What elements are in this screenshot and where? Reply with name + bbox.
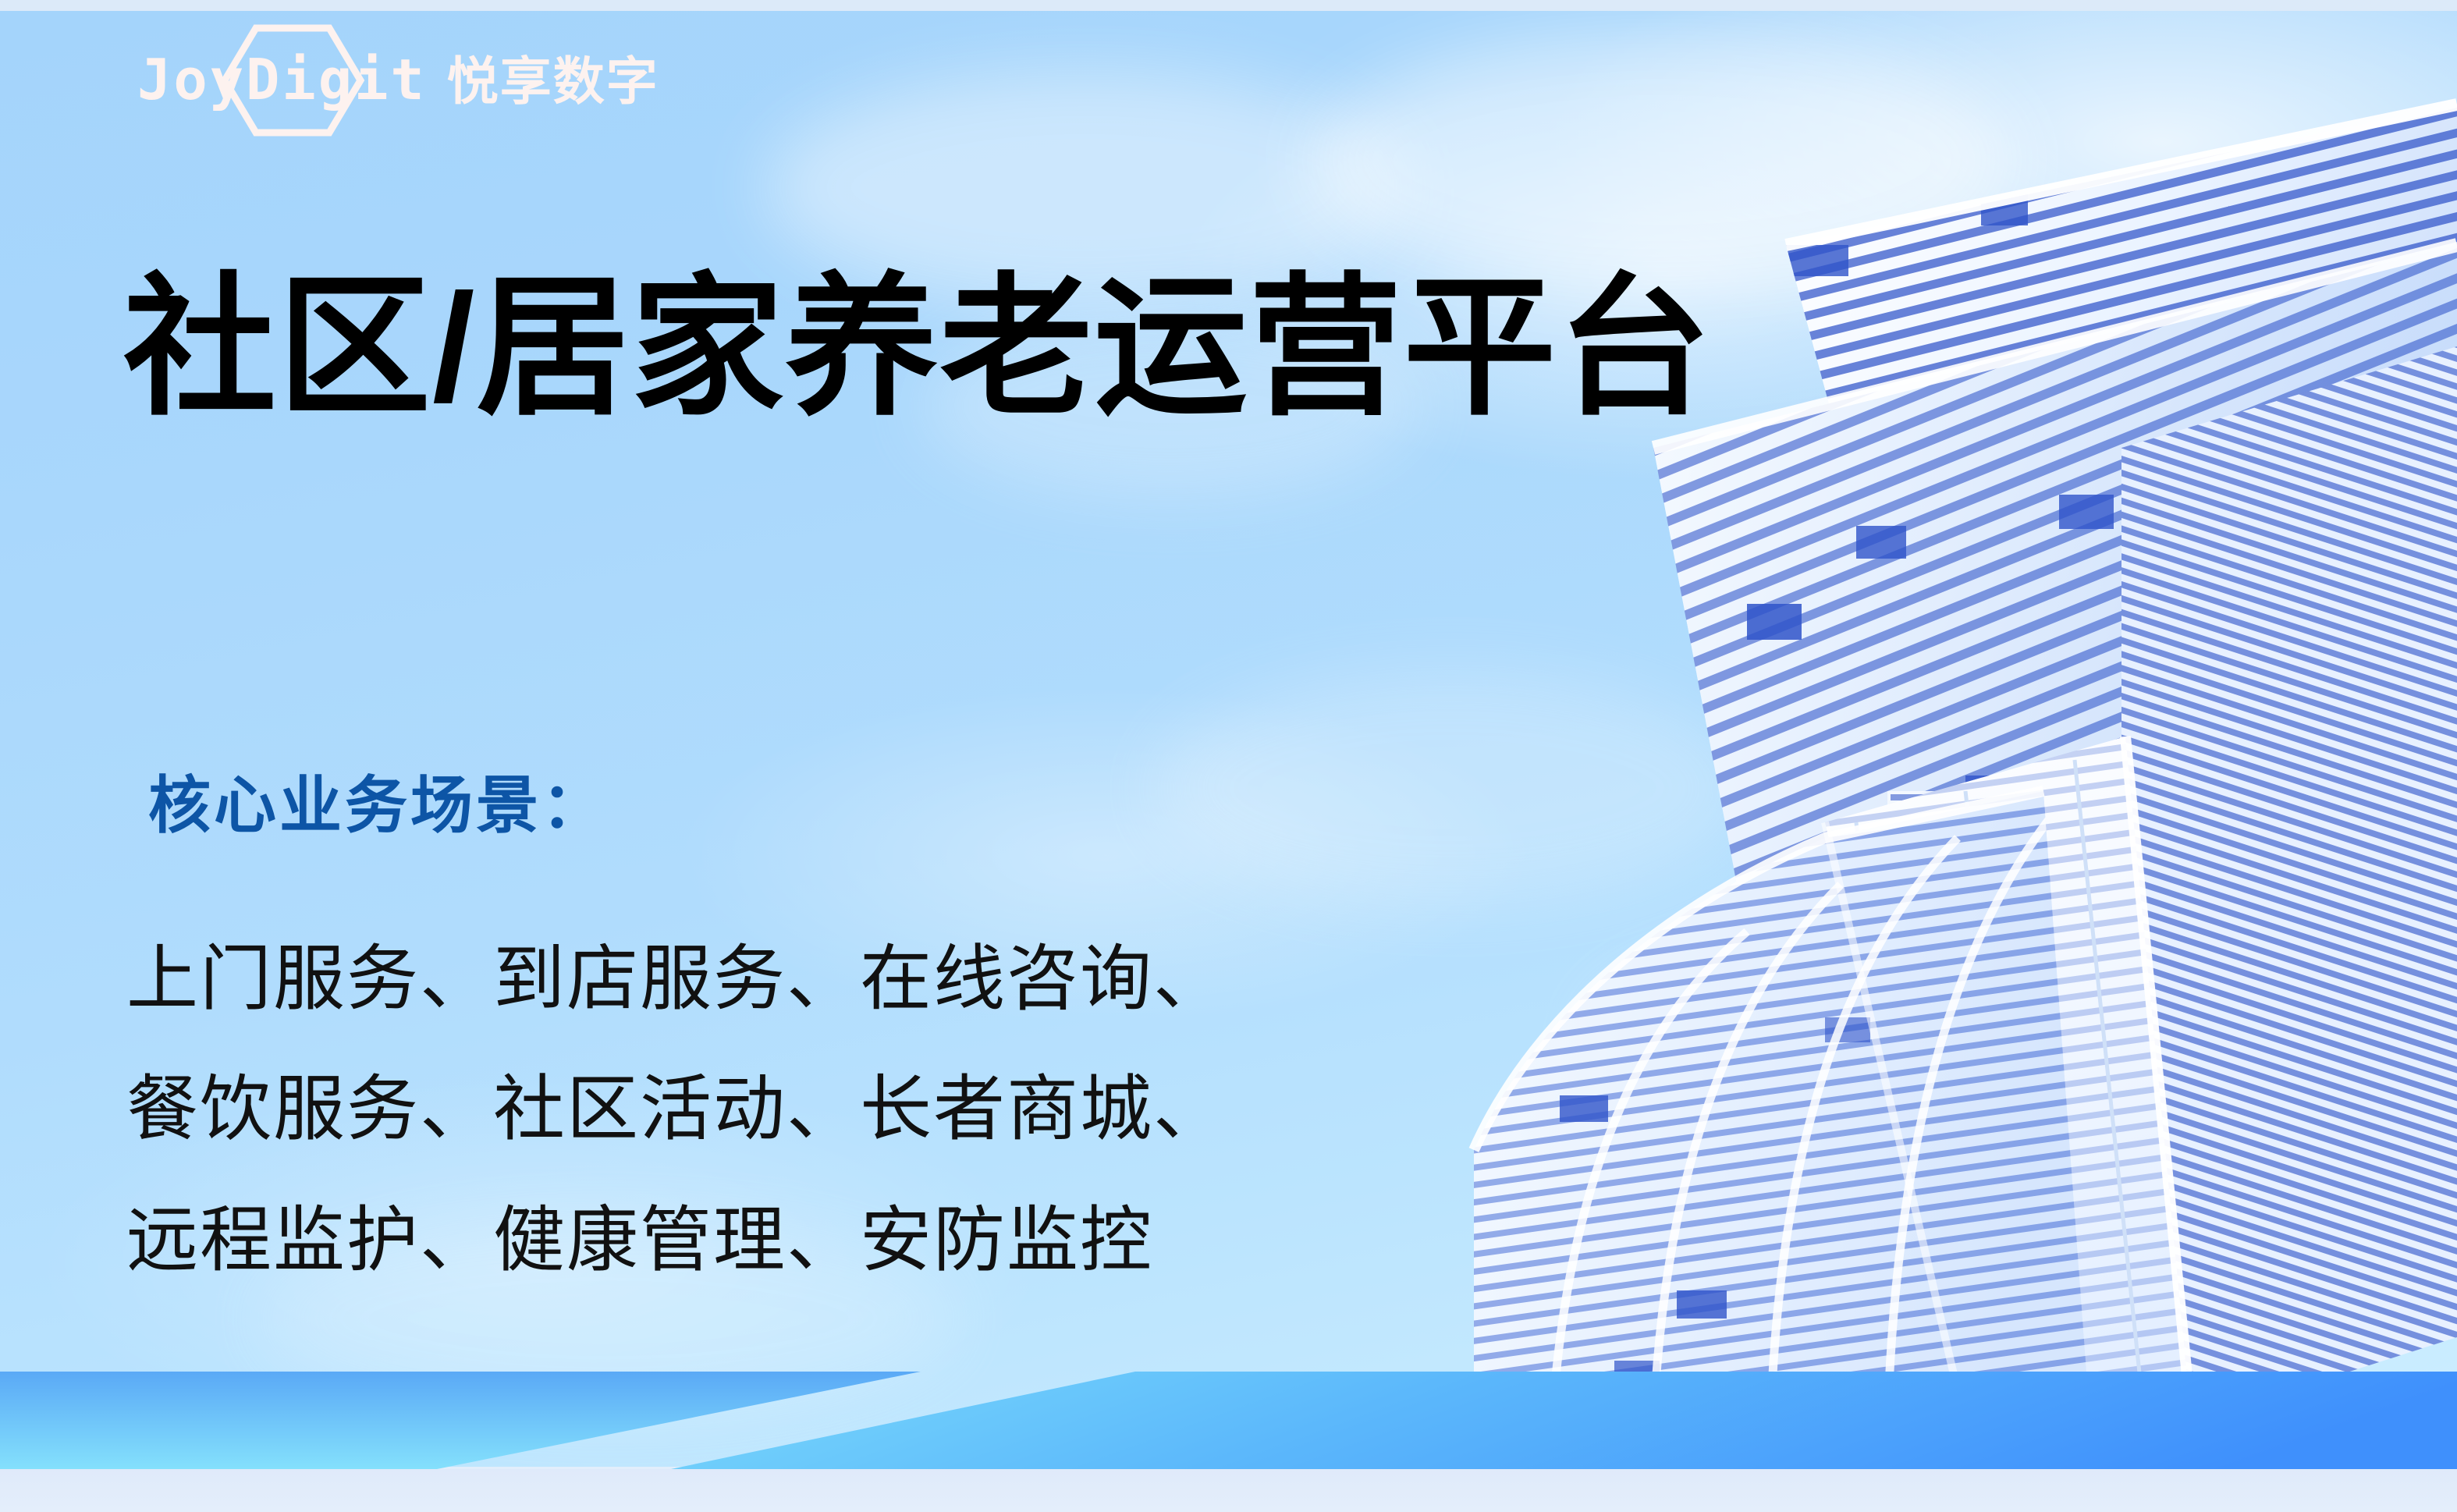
logo-wordmark-en: JoyDigit xyxy=(137,51,427,108)
scenario-line: 上门服务、到店服务、在线咨询、 xyxy=(126,914,1227,1045)
scenario-list: 上门服务、到店服务、在线咨询、 餐饮服务、社区活动、长者商城、 远程监护、健康管… xyxy=(126,914,1227,1306)
bottom-decor-band xyxy=(0,1372,2457,1469)
slide-root: JoyDigit 悦享数字 社区/居家养老运营平台 核心业务场景： 上门服务、到… xyxy=(0,0,2457,1512)
page-title: 社区/居家养老运营平台 xyxy=(123,262,1712,434)
skyscraper-image xyxy=(1419,11,2457,1425)
bottom-base-fill xyxy=(0,1469,2457,1512)
top-edge-strip xyxy=(0,0,2457,11)
section-heading-core-scenarios: 核心业务场景： xyxy=(148,768,607,843)
logo-wordmark-cn: 悦享数字 xyxy=(447,55,659,107)
brand-logo: JoyDigit 悦享数字 xyxy=(137,33,659,126)
scenario-line: 远程监护、健康管理、安防监控 xyxy=(126,1176,1227,1306)
scenario-line: 餐饮服务、社区活动、长者商城、 xyxy=(126,1045,1227,1175)
